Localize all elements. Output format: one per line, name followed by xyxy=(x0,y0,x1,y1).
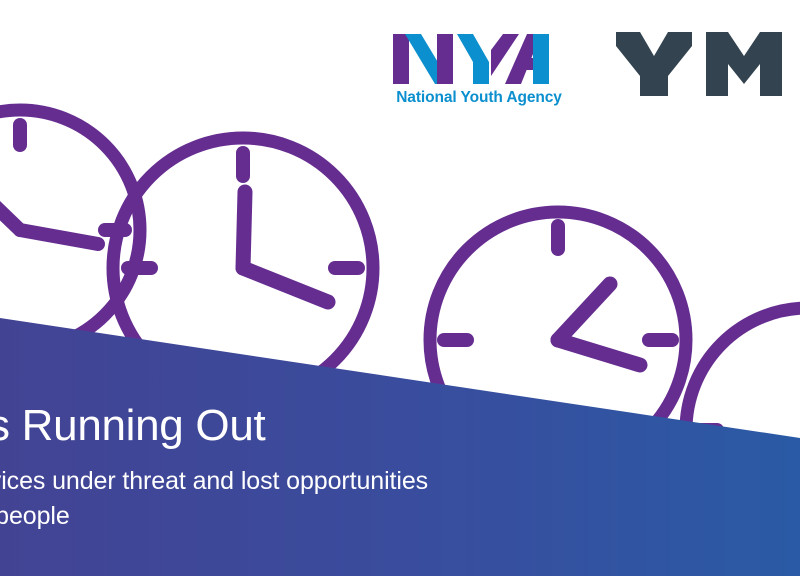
banner-text-block: Time's Running Out Youth services under … xyxy=(0,404,645,533)
ymca-logo xyxy=(610,26,800,102)
banner-title: Time's Running Out xyxy=(0,404,645,448)
poster-canvas: National Youth Agency Time's Runnin xyxy=(0,0,800,576)
ymca-wordmark-icon xyxy=(610,26,800,102)
clock-4 xyxy=(686,308,800,552)
banner-subtitle-line-1: Youth services under threat and lost opp… xyxy=(0,464,645,499)
clock-2 xyxy=(113,138,373,398)
nya-wordmark-icon xyxy=(393,28,565,86)
nya-logo: National Youth Agency xyxy=(393,28,565,108)
nya-tagline: National Youth Agency xyxy=(393,89,565,107)
banner-subtitle-line-2: for young people xyxy=(0,499,645,534)
